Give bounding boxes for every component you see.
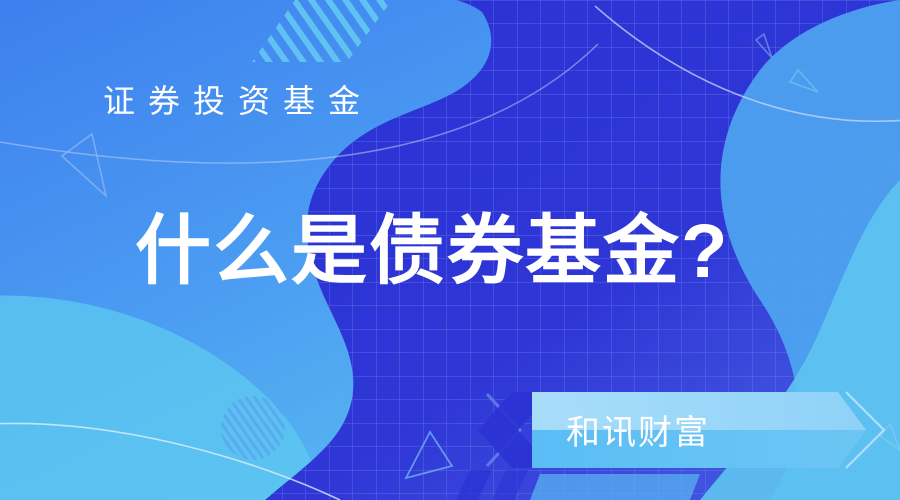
promo-banner: 证券投资基金 什么是债券基金? 和讯财富	[0, 0, 900, 500]
subtitle-text: 证券投资基金	[103, 78, 373, 124]
brand-label: 和讯财富	[566, 409, 710, 457]
page-title: 什么是债券基金?	[135, 198, 729, 306]
